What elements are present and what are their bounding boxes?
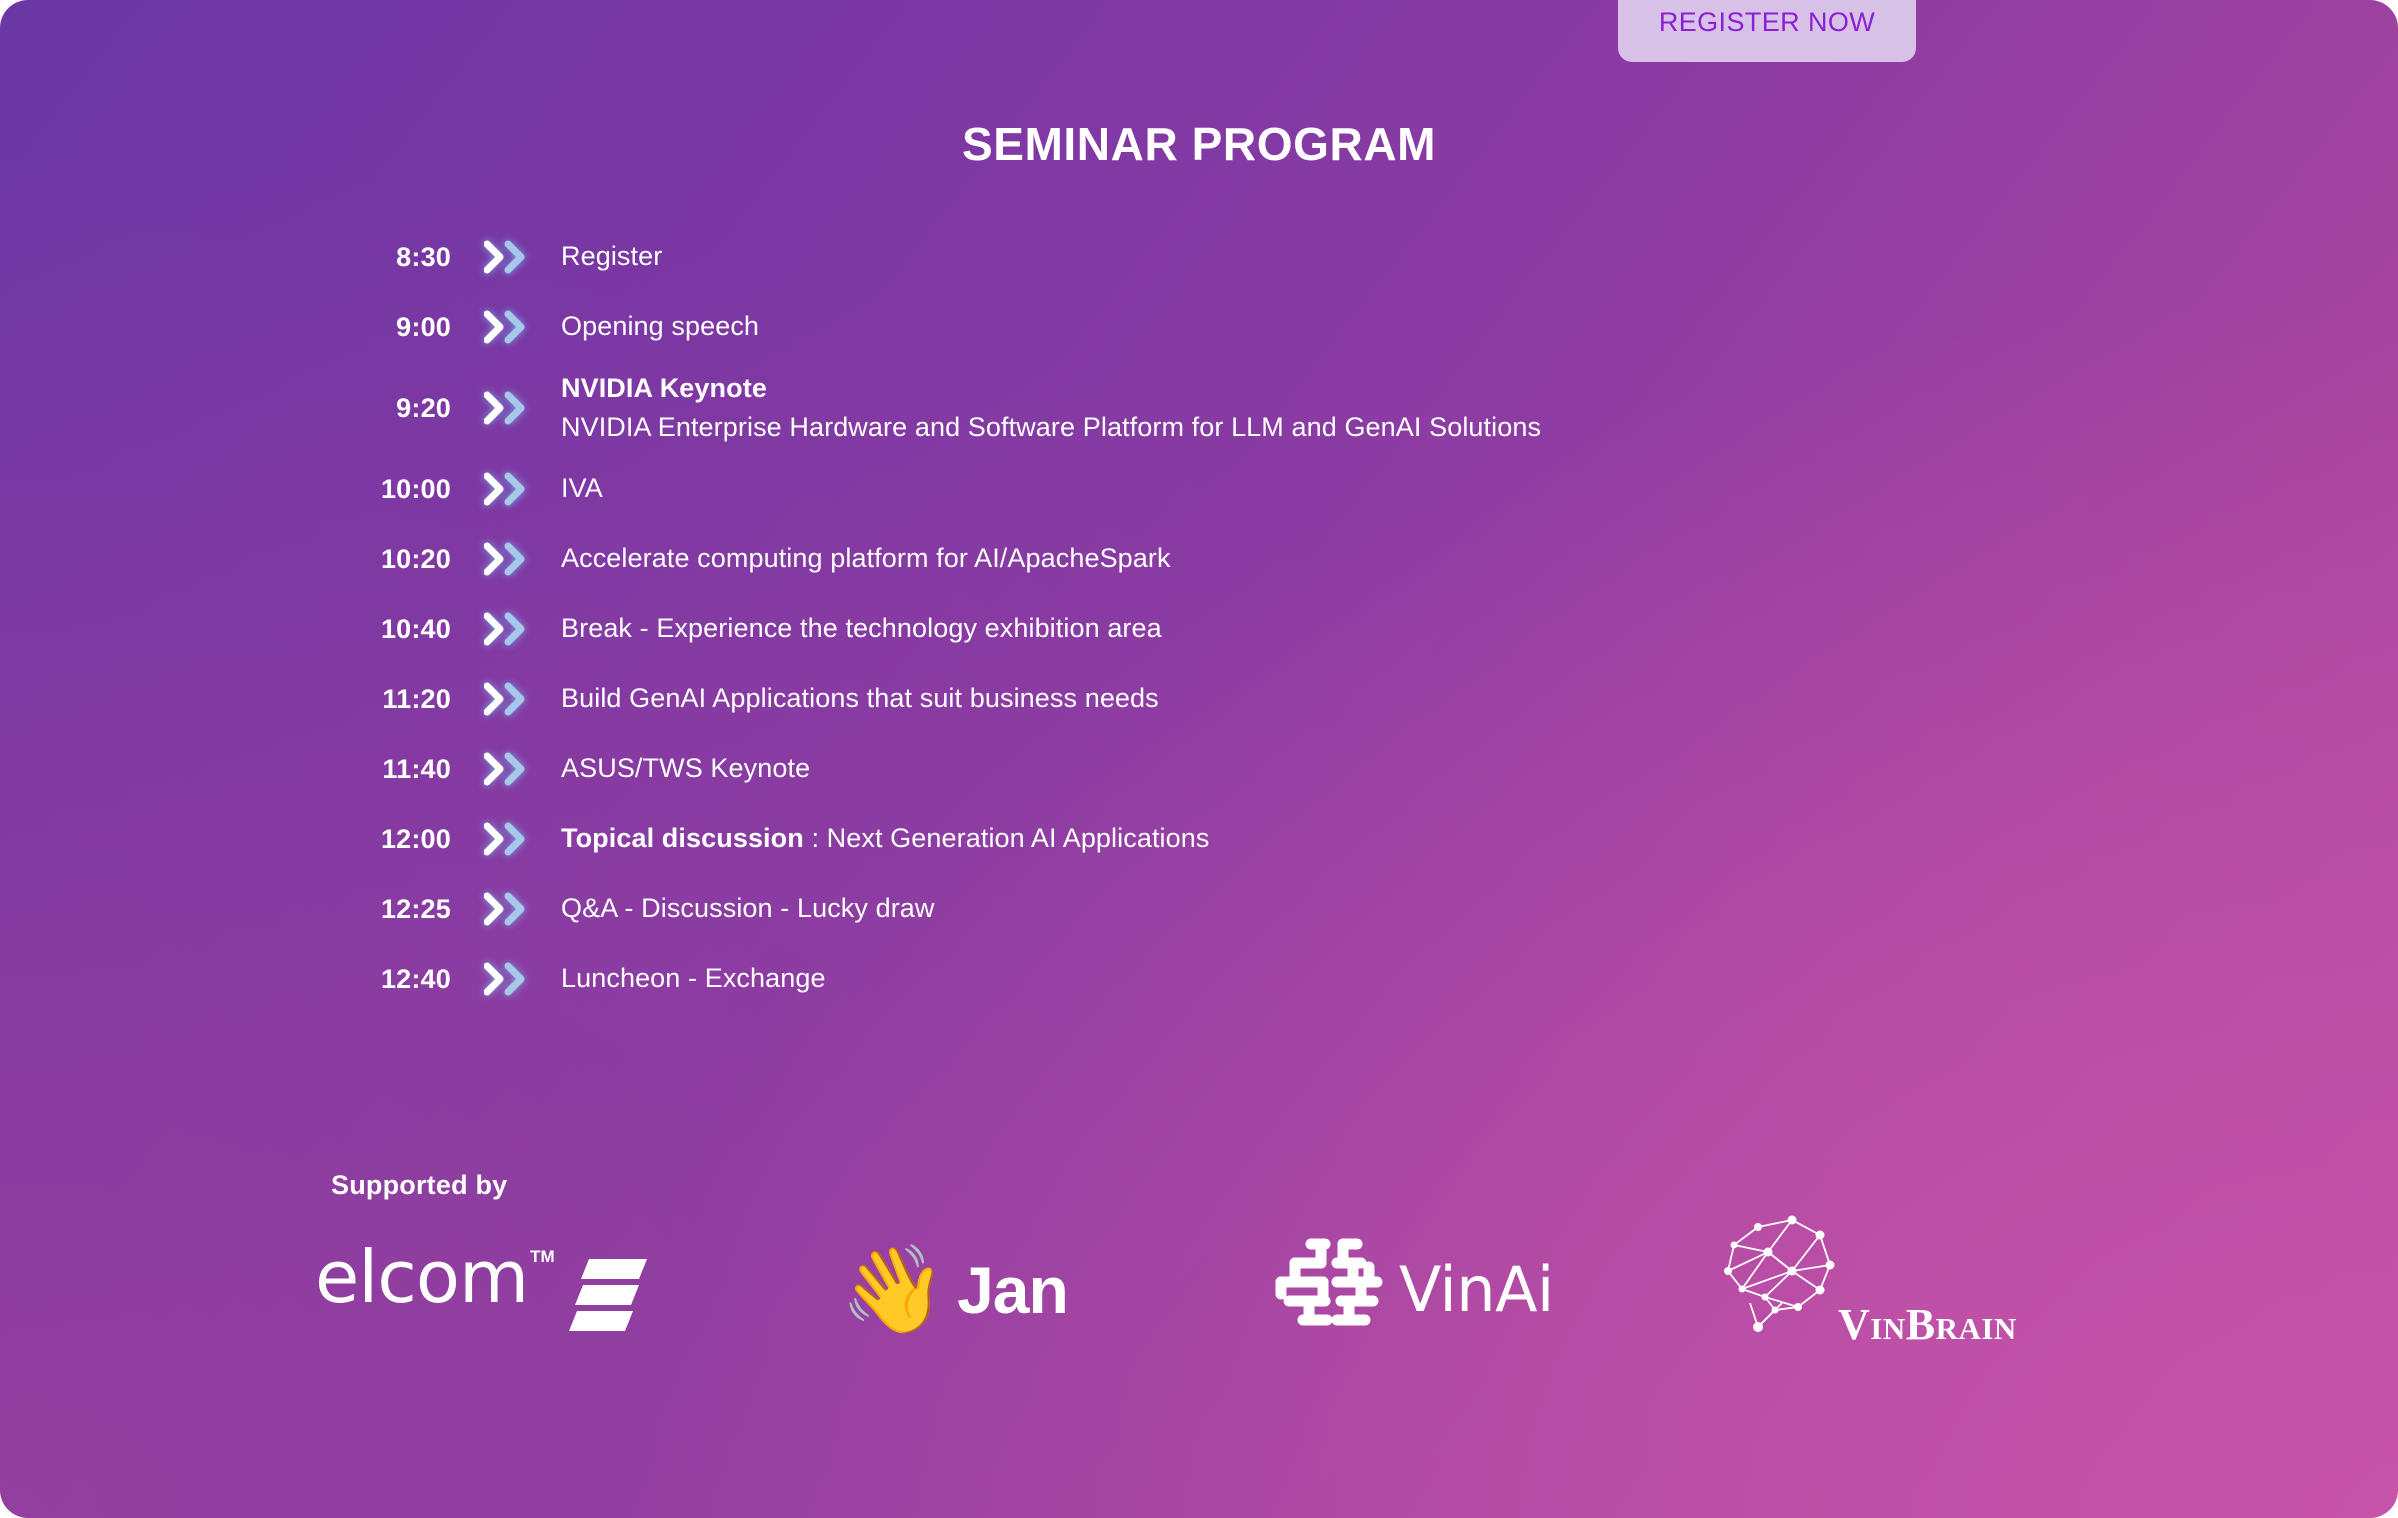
- seminar-program-page: REGISTER NOW SEMINAR PROGRAM 8:30 Regist…: [0, 0, 2398, 1518]
- schedule-description: Opening speech: [561, 307, 759, 346]
- schedule-row: 10:40 Break - Experience the technology …: [333, 594, 2133, 664]
- schedule-row: 9:00 Opening speech: [333, 292, 2133, 362]
- vinai-wordmark: VinAi: [1399, 1259, 1554, 1321]
- schedule-time: 11:20: [333, 684, 451, 715]
- schedule-description: IVA: [561, 469, 603, 508]
- double-chevron-icon: [484, 892, 530, 926]
- schedule-time: 9:20: [333, 393, 451, 424]
- sponsor-logo-jan[interactable]: 👋 Jan: [840, 1215, 1068, 1365]
- schedule-row: 11:40 ASUS/TWS Keynote: [333, 734, 2133, 804]
- seminar-schedule-list: 8:30 Register 9:00 Opening speech 9:: [333, 222, 2133, 1014]
- trademark-icon: TM: [530, 1247, 555, 1267]
- schedule-time: 11:40: [333, 754, 451, 785]
- schedule-row: 12:00 Topical discussion : Next Generati…: [333, 804, 2133, 874]
- vinai-circuit-mark-icon: [1265, 1234, 1387, 1347]
- elcom-wordmark: elcom: [315, 1241, 528, 1313]
- schedule-description: Build GenAI Applications that suit busin…: [561, 679, 1159, 718]
- schedule-description: ASUS/TWS Keynote: [561, 749, 810, 788]
- schedule-time: 12:25: [333, 894, 451, 925]
- double-chevron-icon: [484, 682, 530, 716]
- page-title: SEMINAR PROGRAM: [0, 117, 2398, 171]
- schedule-description: NVIDIA Keynote NVIDIA Enterprise Hardwar…: [561, 369, 1541, 447]
- schedule-row: 10:00 IVA: [333, 454, 2133, 524]
- double-chevron-icon: [484, 612, 530, 646]
- schedule-row: 12:25 Q&A - Discussion - Lucky draw: [333, 874, 2133, 944]
- schedule-time: 10:40: [333, 614, 451, 645]
- schedule-description: Accelerate computing platform for AI/Apa…: [561, 539, 1171, 578]
- supported-by-label: Supported by: [331, 1170, 507, 1201]
- schedule-time: 10:20: [333, 544, 451, 575]
- schedule-time: 10:00: [333, 474, 451, 505]
- waving-hand-icon: 👋: [840, 1247, 947, 1333]
- schedule-description: Topical discussion : Next Generation AI …: [561, 819, 1210, 858]
- jan-wordmark: Jan: [957, 1257, 1068, 1323]
- schedule-row: 8:30 Register: [333, 222, 2133, 292]
- schedule-session-subtitle: : Next Generation AI Applications: [804, 823, 1210, 853]
- double-chevron-icon: [484, 391, 530, 425]
- schedule-session-subtitle: NVIDIA Enterprise Hardware and Software …: [561, 408, 1541, 447]
- schedule-time: 12:00: [333, 824, 451, 855]
- vinbrain-wordmark: VinBrain: [1838, 1303, 2017, 1347]
- sponsor-logo-vinbrain[interactable]: VinBrain: [1720, 1215, 2020, 1365]
- elcom-e-mark-icon: [569, 1255, 647, 1340]
- schedule-time: 8:30: [333, 242, 451, 273]
- double-chevron-icon: [484, 472, 530, 506]
- schedule-session-title: Topical discussion: [561, 823, 804, 853]
- double-chevron-icon: [484, 240, 530, 274]
- register-now-button[interactable]: REGISTER NOW: [1618, 0, 1916, 62]
- sponsor-logo-vinai[interactable]: VinAi: [1265, 1215, 1554, 1365]
- schedule-time: 12:40: [333, 964, 451, 995]
- schedule-description: Luncheon - Exchange: [561, 959, 826, 998]
- schedule-row: 10:20 Accelerate computing platform for …: [333, 524, 2133, 594]
- double-chevron-icon: [484, 310, 530, 344]
- schedule-row: 11:20 Build GenAI Applications that suit…: [333, 664, 2133, 734]
- sponsor-logo-elcom[interactable]: elcom TM: [315, 1215, 647, 1365]
- schedule-session-title: NVIDIA Keynote: [561, 369, 1541, 408]
- schedule-description: Break - Experience the technology exhibi…: [561, 609, 1162, 648]
- schedule-description: Register: [561, 237, 662, 276]
- double-chevron-icon: [484, 962, 530, 996]
- schedule-row: 12:40 Luncheon - Exchange: [333, 944, 2133, 1014]
- double-chevron-icon: [484, 822, 530, 856]
- schedule-row: 9:20 NVIDIA Keynote NVIDIA Enterprise Ha…: [333, 362, 2133, 454]
- schedule-time: 9:00: [333, 312, 451, 343]
- double-chevron-icon: [484, 542, 530, 576]
- double-chevron-icon: [484, 752, 530, 786]
- schedule-description: Q&A - Discussion - Lucky draw: [561, 889, 935, 928]
- sponsor-logo-row: elcom TM 👋 Jan: [300, 1215, 2200, 1365]
